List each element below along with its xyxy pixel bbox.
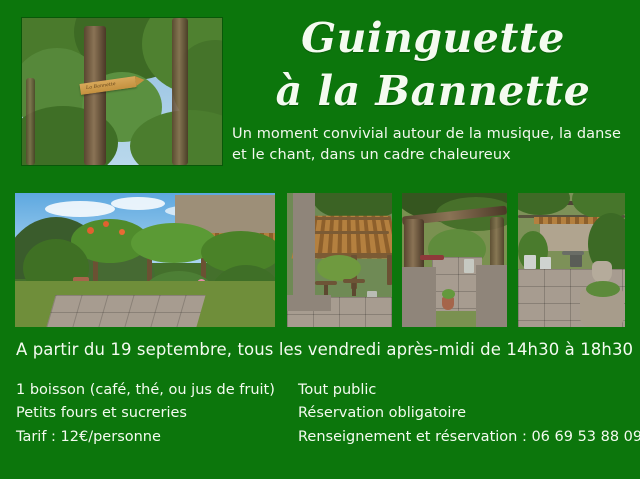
details-section: 1 boisson (café, thé, ou jus de fruit) P…: [16, 379, 636, 469]
strip-photo-garden-pergola: [15, 193, 275, 327]
detail-item: Tout public: [298, 379, 640, 402]
poster-title-block: Guinguette à la Bannette: [228, 4, 638, 112]
title-line-1: Guinguette: [228, 4, 638, 59]
details-column-booking: Tout public Réservation obligatoire Rens…: [298, 379, 640, 449]
schedule-line: A partir du 19 septembre, tous les vendr…: [16, 340, 636, 359]
detail-item: Réservation obligatoire: [298, 402, 640, 425]
details-column-offer: 1 boisson (café, thé, ou jus de fruit) P…: [16, 379, 281, 449]
strip-photo-covered-terrace: [287, 193, 392, 327]
poster-canvas: La Bannette Guinguette à la Bannette Un …: [0, 0, 640, 479]
hero-photo-forest-sign: La Bannette: [22, 18, 222, 165]
detail-item: Tarif : 12€/personne: [16, 426, 281, 449]
paved-terrace-scene: [518, 193, 625, 327]
detail-item-phone[interactable]: Renseignement et réservation : 06 69 53 …: [298, 426, 640, 449]
title-line-2: à la Bannette: [228, 59, 638, 112]
shaded-path-scene: [402, 193, 507, 327]
forest-scene: La Bannette: [22, 18, 222, 165]
hero-section: La Bannette Guinguette à la Bannette Un …: [0, 0, 640, 185]
poster-subtitle: Un moment convivial autour de la musique…: [232, 124, 636, 165]
garden-pergola-scene: [15, 193, 275, 327]
detail-item: Petits fours et sucreries: [16, 402, 281, 425]
detail-item: 1 boisson (café, thé, ou jus de fruit): [16, 379, 281, 402]
strip-photo-shaded-path: [402, 193, 507, 327]
covered-terrace-scene: [287, 193, 392, 327]
photo-strip: [0, 193, 640, 327]
strip-photo-paved-terrace: [518, 193, 625, 327]
